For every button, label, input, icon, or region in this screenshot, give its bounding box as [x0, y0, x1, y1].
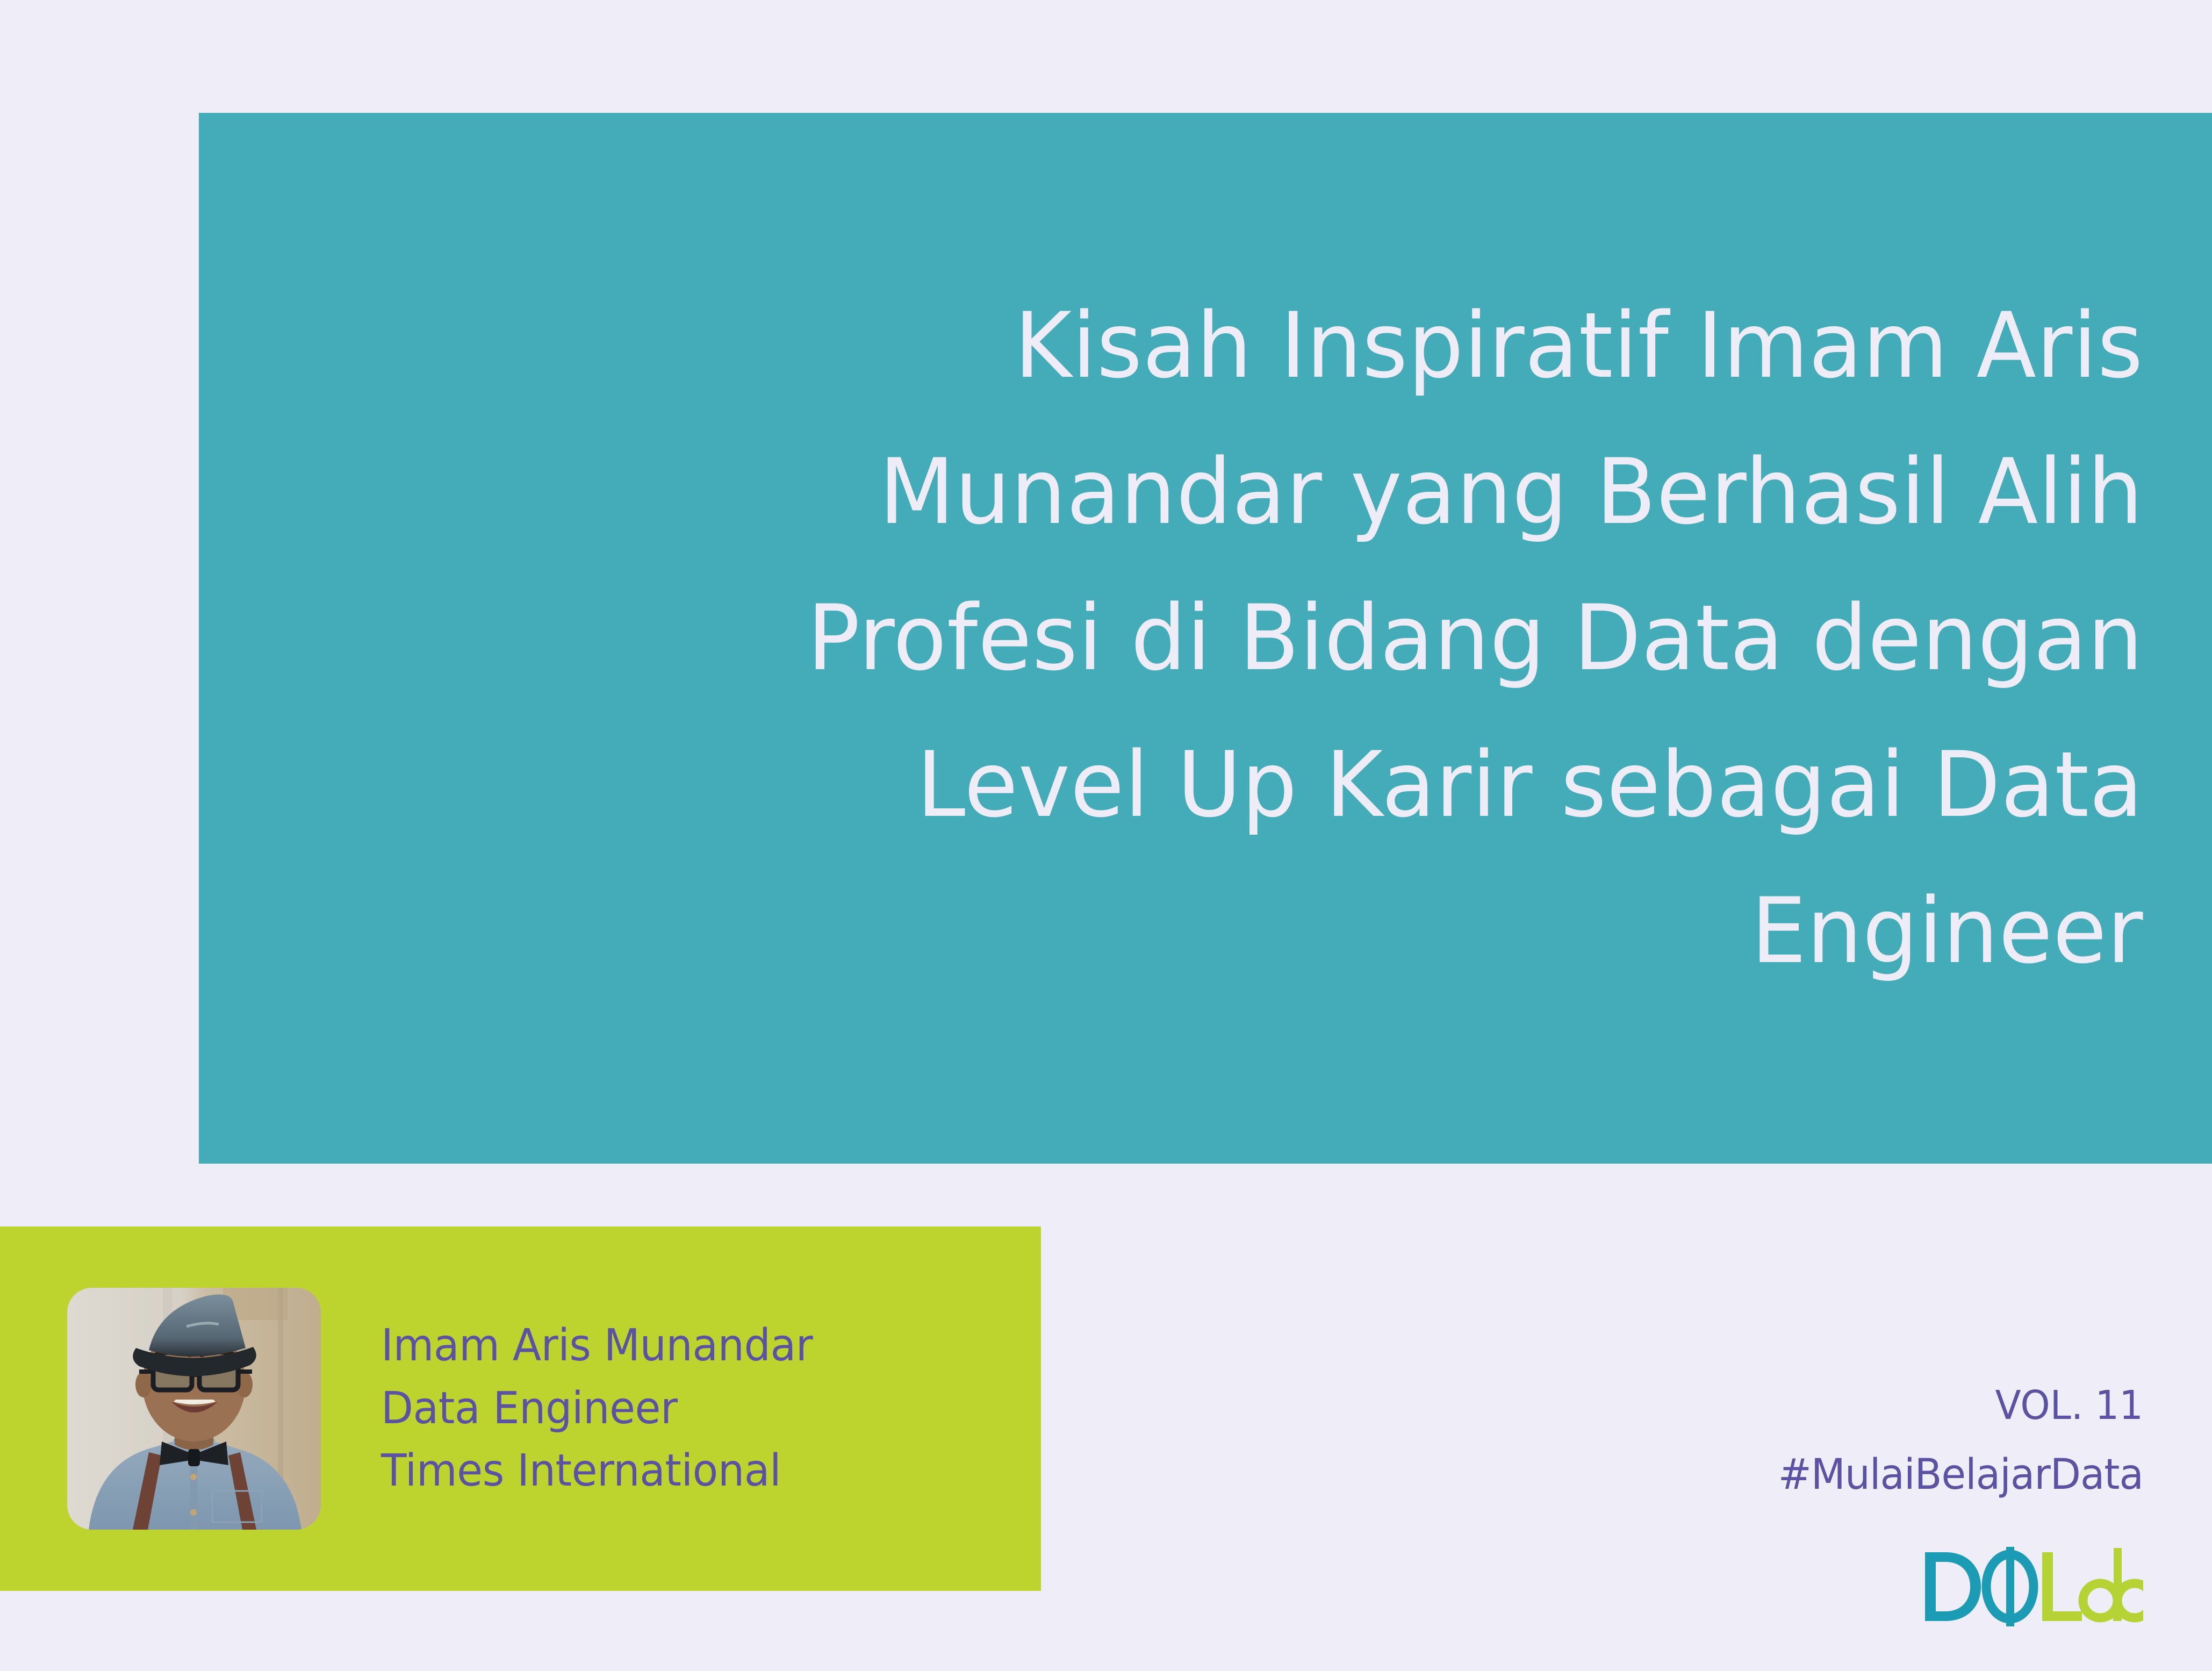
logo-letter-a-bowl	[2083, 1583, 2117, 1618]
avatar	[67, 1288, 321, 1530]
meta-block: VOL. 11 #MulaiBelajarData	[1552, 1384, 2143, 1498]
logo-letter-d	[1925, 1552, 1981, 1621]
speaker-info: Imam Aris Munandar Data Engineer Times I…	[381, 1315, 813, 1502]
page-title: Kisah Inspiratif Imam Aris Munandar yang…	[299, 272, 2143, 1004]
logo-letter-l	[2042, 1552, 2082, 1621]
speaker-company: Times International	[381, 1440, 813, 1502]
title-banner: Kisah Inspiratif Imam Aris Munandar yang…	[199, 113, 2212, 1164]
dqlab-logo	[1917, 1544, 2143, 1630]
hashtag-label: #MulaiBelajarData	[1582, 1452, 2143, 1498]
logo-symbol-q-stem	[2006, 1547, 2014, 1626]
speaker-role: Data Engineer	[381, 1378, 813, 1440]
speaker-name: Imam Aris Munandar	[381, 1315, 813, 1377]
logo-letter-b-stem	[2114, 1548, 2122, 1621]
speaker-card: Imam Aris Munandar Data Engineer Times I…	[0, 1227, 1041, 1591]
volume-label: VOL. 11	[1582, 1384, 2143, 1428]
